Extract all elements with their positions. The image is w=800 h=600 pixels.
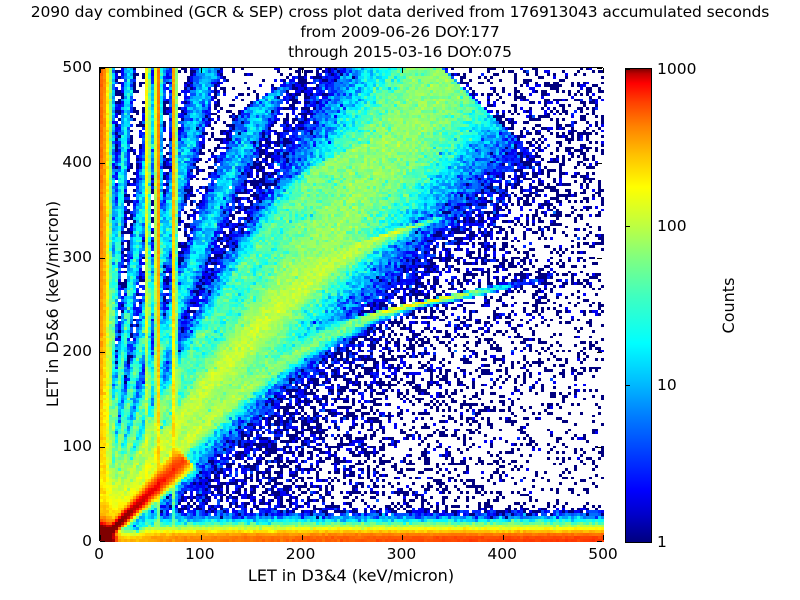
y-tick-label-200: 200 <box>62 342 92 360</box>
x-axis-label: LET in D3&4 (keV/micron) <box>99 566 603 585</box>
y-tick-label-500: 500 <box>62 58 92 76</box>
colorbar-tick-label-1000: 1000 <box>657 60 696 78</box>
x-tick-top-200 <box>302 68 303 73</box>
y-tick-300 <box>100 258 105 259</box>
x-tick-300 <box>402 535 403 540</box>
colorbar-tick-1000 <box>625 69 630 70</box>
figure-canvas: 2090 day combined (GCR & SEP) cross plot… <box>0 0 800 600</box>
y-tick-right-100 <box>597 447 602 448</box>
colorbar-label: Counts <box>718 68 740 543</box>
title-line-3: through 2015-03-16 DOY:075 <box>0 42 800 62</box>
x-tick-200 <box>302 535 303 540</box>
y-tick-500 <box>100 68 105 69</box>
y-tick-right-300 <box>597 258 602 259</box>
density-heatmap <box>100 68 604 542</box>
x-tick-top-300 <box>402 68 403 73</box>
y-tick-label-100: 100 <box>62 437 92 455</box>
x-tick-top-500 <box>603 68 604 73</box>
colorbar-tick-100 <box>625 226 630 227</box>
x-tick-label-200: 200 <box>286 545 316 563</box>
x-tick-100 <box>201 535 202 540</box>
y-tick-label-300: 300 <box>62 248 92 266</box>
x-tick-0 <box>100 535 101 540</box>
y-tick-right-400 <box>597 163 602 164</box>
y-tick-right-500 <box>597 68 602 69</box>
y-axis-label: LET in D5&6 (keV/micron) <box>40 67 66 541</box>
x-tick-400 <box>503 535 504 540</box>
x-tick-label-100: 100 <box>185 545 215 563</box>
y-tick-label-400: 400 <box>62 153 92 171</box>
colorbar-tick-10 <box>625 385 630 386</box>
x-tick-label-500: 500 <box>588 545 618 563</box>
y-tick-right-200 <box>597 352 602 353</box>
colorbar <box>625 68 652 543</box>
colorbar-tick-label-1: 1 <box>657 533 667 551</box>
title-line-2: from 2009-06-26 DOY:177 <box>0 22 800 42</box>
title-line-1: 2090 day combined (GCR & SEP) cross plot… <box>0 2 800 22</box>
x-tick-label-0: 0 <box>94 545 104 563</box>
x-tick-top-400 <box>503 68 504 73</box>
x-tick-500 <box>603 535 604 540</box>
y-tick-right-0 <box>597 541 602 542</box>
y-tick-400 <box>100 163 105 164</box>
colorbar-tick-label-100: 100 <box>657 217 687 235</box>
y-tick-200 <box>100 352 105 353</box>
y-tick-label-0: 0 <box>82 532 92 550</box>
x-tick-top-100 <box>201 68 202 73</box>
x-tick-label-400: 400 <box>487 545 517 563</box>
plot-title: 2090 day combined (GCR & SEP) cross plot… <box>0 2 800 62</box>
y-tick-0 <box>100 541 105 542</box>
x-tick-label-300: 300 <box>387 545 417 563</box>
colorbar-tick-label-10: 10 <box>657 376 677 394</box>
plot-axes <box>99 67 603 541</box>
colorbar-tick-1 <box>625 542 630 543</box>
y-tick-100 <box>100 447 105 448</box>
